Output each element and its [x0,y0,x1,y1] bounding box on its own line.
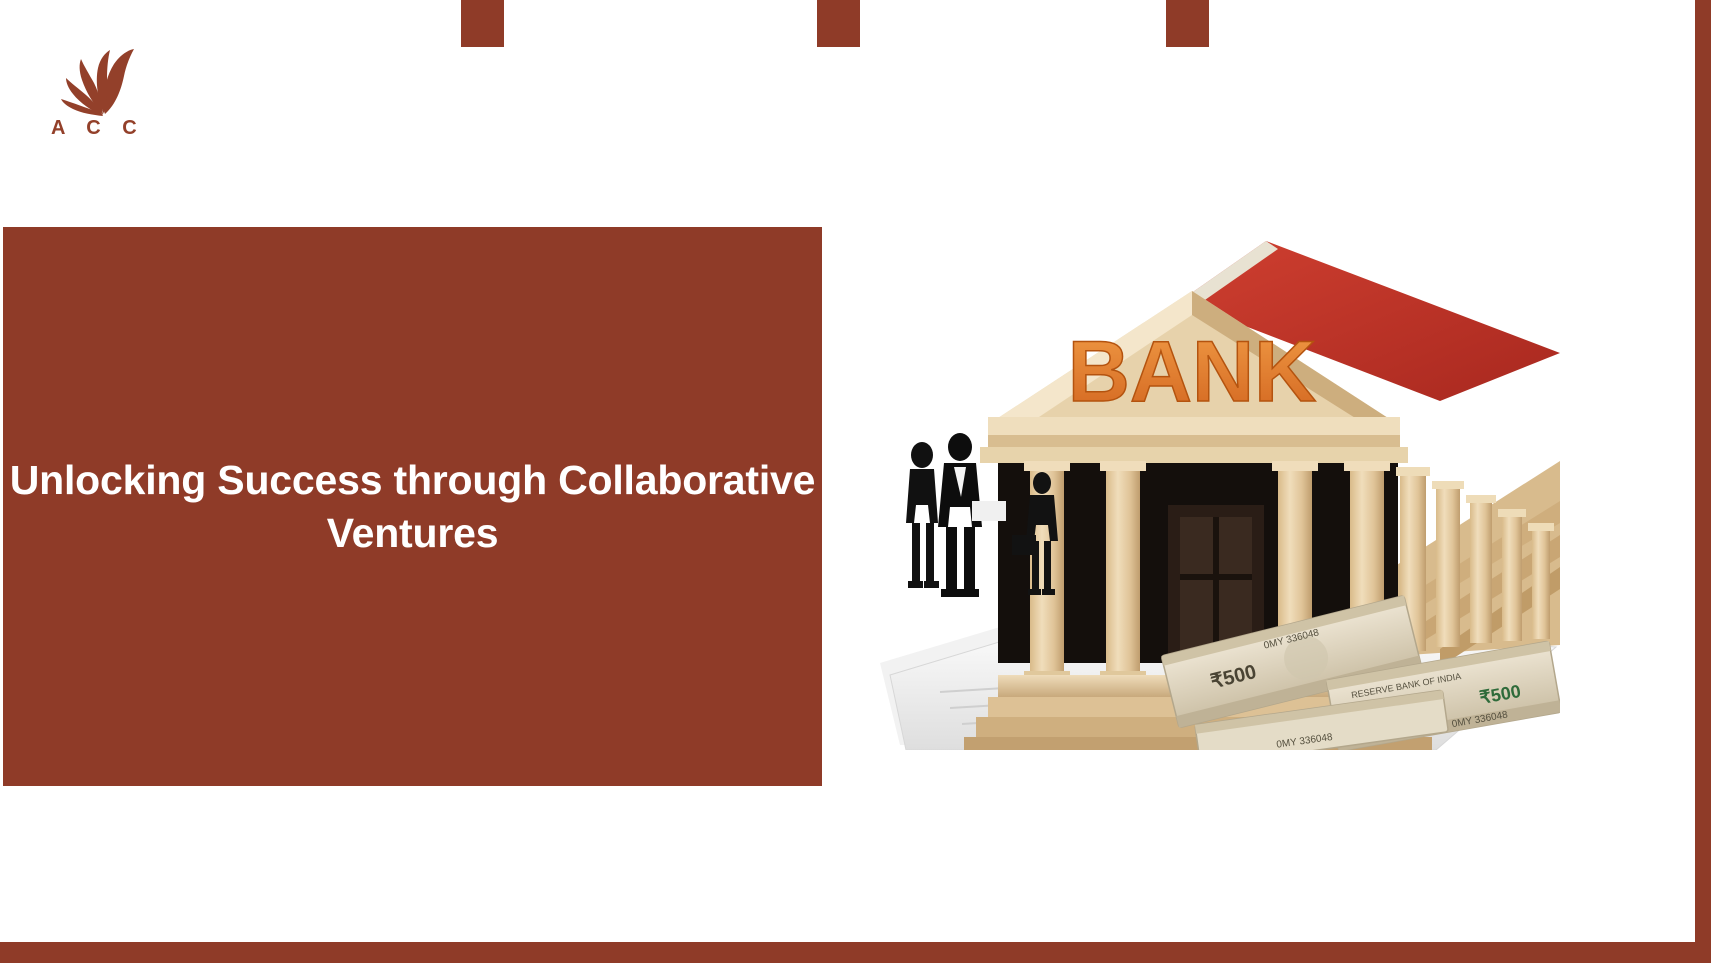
title-block: Unlocking Success through Collaborative … [3,227,822,786]
slide-canvas: A C C Unlocking Success through Collabor… [0,0,1711,963]
bank-sign: BANK [1068,324,1316,420]
brand-logo: A C C [50,48,146,148]
slide-title: Unlocking Success through Collaborative … [3,454,822,559]
bank-illustration: BANK [880,205,1560,750]
top-accent-bar-2 [817,0,860,47]
svg-text:BANK: BANK [1068,324,1316,420]
right-accent-bar [1695,0,1711,963]
top-accent-bar-3 [1166,0,1209,47]
top-accent-bar-1 [461,0,504,47]
acc-flame-logo-icon [50,48,146,116]
bottom-accent-bar [0,942,1711,963]
businessman-silhouette-1 [906,442,939,588]
bank-illustration-graphic: BANK [880,205,1560,750]
brand-logo-text: A C C [50,118,146,138]
